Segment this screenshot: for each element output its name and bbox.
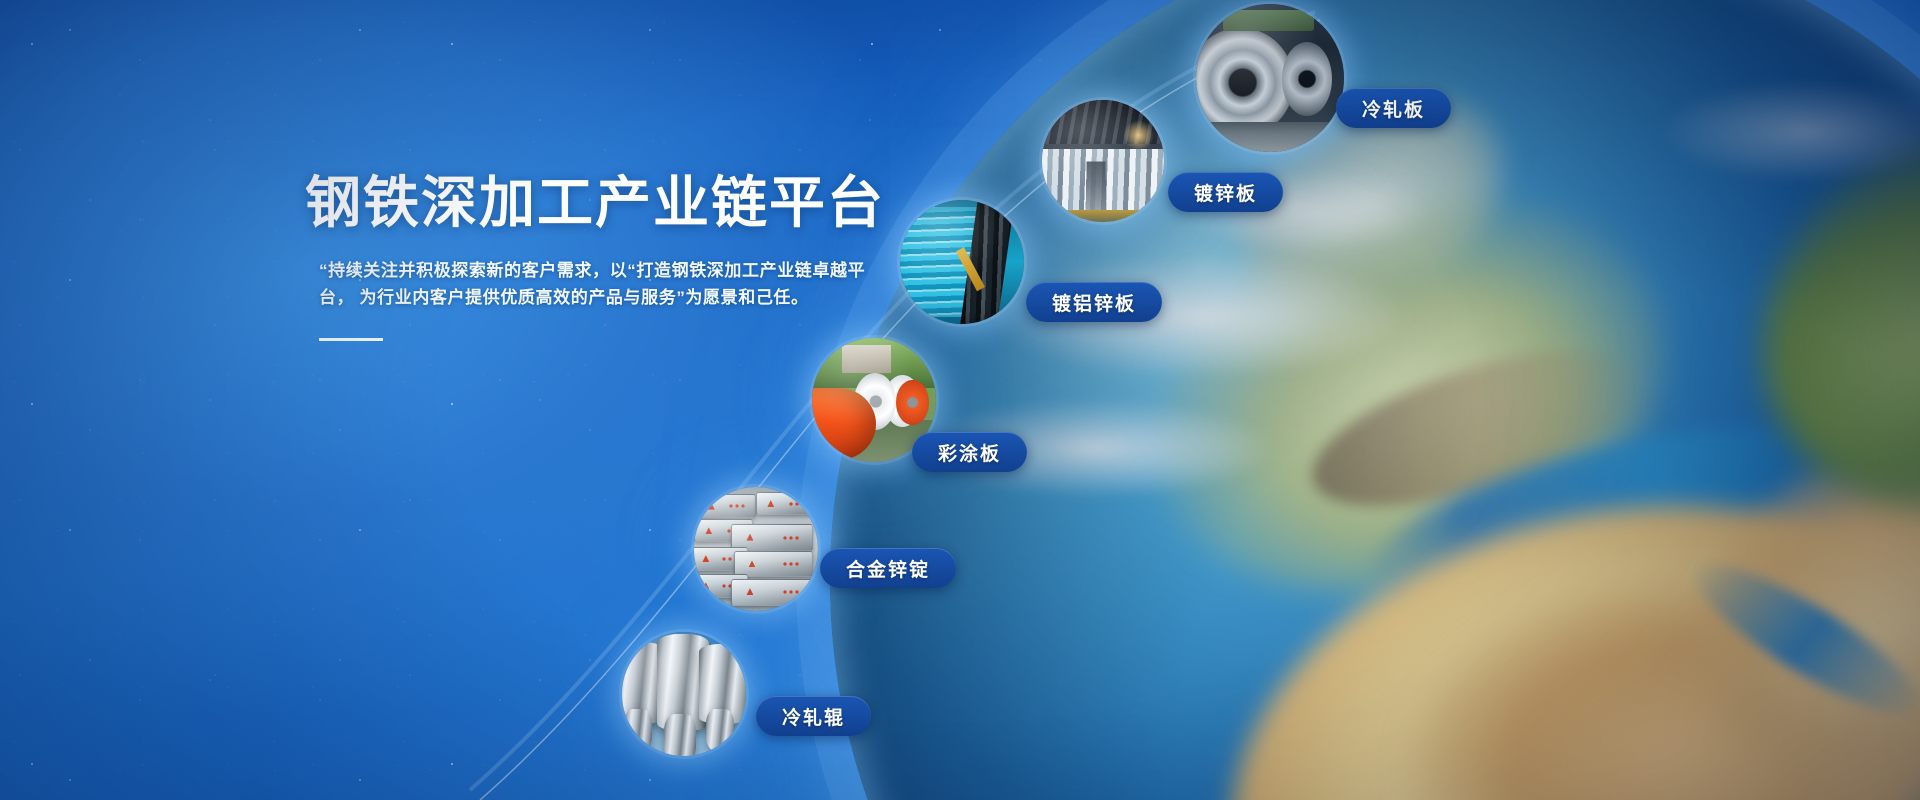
page-title: 钢铁深加工产业链平台	[305, 172, 925, 235]
hero-copy-block: 钢铁深加工产业链平台 “持续关注并积极探索新的客户需求，以“打造钢铁深加工产业链…	[305, 172, 925, 341]
ingot-mark-icon	[767, 500, 774, 507]
ingot-block	[696, 494, 755, 517]
ingot-dots-icon	[789, 502, 805, 506]
hero-subtitle: “持续关注并积极探索新的客户需求，以“打造钢铁深加工产业链卓越平台， 为行业内客…	[319, 257, 899, 312]
product-thumb-aluminum-zinc-plate[interactable]	[900, 200, 1024, 324]
background-building-shape	[842, 345, 892, 372]
roll-cylinder-neck	[706, 709, 733, 751]
ingot-block	[731, 579, 812, 606]
cold-rolling-roll-photo	[622, 632, 746, 756]
factory-roof-shape	[1223, 10, 1315, 31]
title-underline	[319, 338, 383, 341]
ingot-dots-icon	[783, 562, 799, 566]
product-label-cold-rolling-roll[interactable]: 冷轧辊	[756, 696, 871, 736]
product-thumb-cold-rolled-plate[interactable]	[1196, 4, 1344, 152]
steel-coil-row-photo	[1196, 4, 1344, 152]
hero-banner: 钢铁深加工产业链平台 “持续关注并积极探索新的客户需求，以“打造钢铁深加工产业链…	[0, 0, 1920, 800]
ingot-mark-icon	[705, 527, 712, 534]
product-label-cold-rolled-plate[interactable]: 冷轧板	[1336, 88, 1451, 128]
ingot-mark-icon	[708, 503, 715, 510]
product-label-zinc-alloy-ingot[interactable]: 合金锌锭	[820, 548, 956, 588]
roll-cylinder-neck	[624, 709, 651, 751]
ingot-mark-icon	[746, 534, 753, 541]
aluzinc-cyan-coil-photo	[900, 200, 1024, 324]
product-label-aluminum-zinc-plate[interactable]: 镀铝锌板	[1026, 282, 1162, 322]
product-thumb-zinc-alloy-ingot[interactable]	[694, 487, 818, 611]
warehouse-floor-shape	[1042, 210, 1164, 222]
product-thumb-galvanized-plate[interactable]	[1042, 100, 1164, 222]
ingot-mark-icon	[702, 582, 709, 589]
product-label-color-coated-plate[interactable]: 彩涂板	[912, 432, 1027, 472]
ingot-dots-icon	[783, 536, 799, 540]
zinc-alloy-ingot-stack-photo	[694, 487, 818, 611]
starfield-layer-3	[0, 0, 1190, 800]
ingot-mark-icon	[749, 560, 756, 567]
factory-floor-shape	[1196, 122, 1344, 152]
ingot-block	[756, 492, 815, 515]
ingot-mark-icon	[746, 588, 753, 595]
product-thumb-cold-rolling-roll[interactable]	[622, 632, 746, 756]
product-label-galvanized-plate[interactable]: 镀锌板	[1168, 172, 1283, 212]
orange-coil-shape-far	[896, 380, 928, 425]
hero-subtitle-line2: 为行业内客户提供优质高效的产品与服务”为愿景和己任。	[360, 288, 809, 307]
ingot-dots-icon	[729, 504, 745, 508]
warehouse-light-glow	[1123, 120, 1155, 152]
roll-cylinder-neck	[664, 714, 696, 756]
ingot-dots-icon	[783, 590, 799, 594]
galvanized-coil-warehouse-photo	[1042, 100, 1164, 222]
ingot-mark-icon	[702, 555, 709, 562]
